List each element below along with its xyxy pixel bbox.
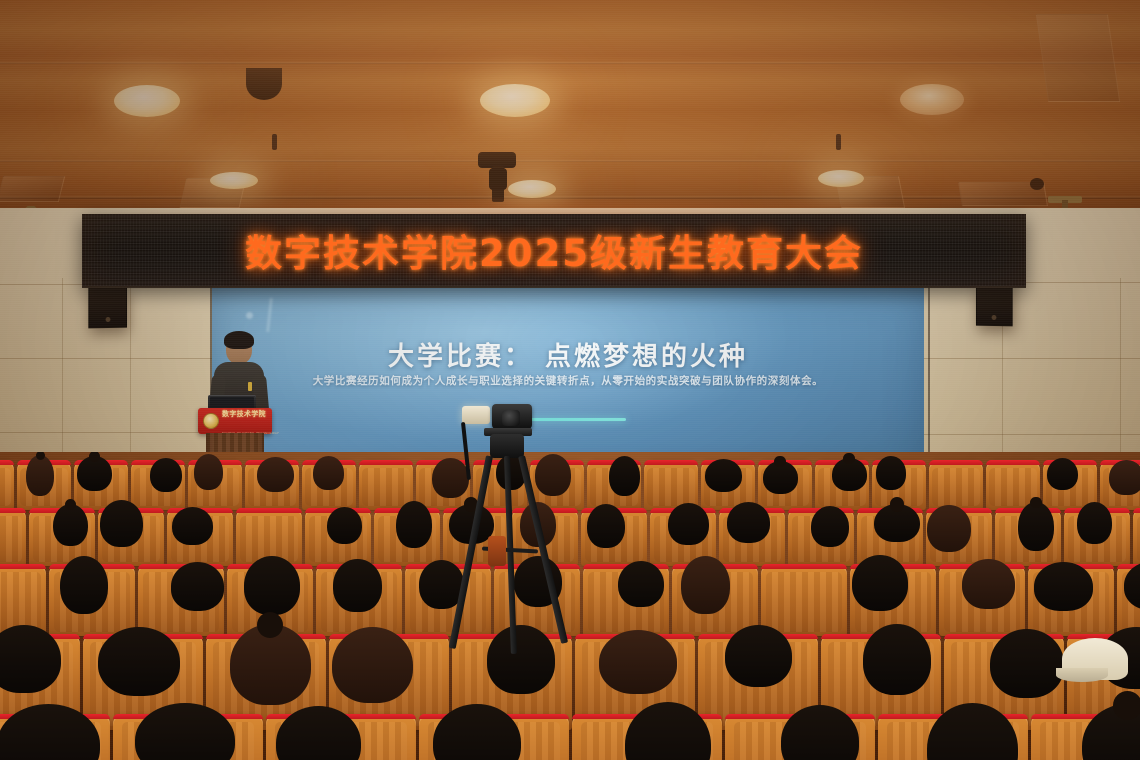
screen-glare — [246, 312, 253, 319]
audience-member — [135, 703, 235, 760]
podium-sign-text: 数字技术学院 — [222, 410, 266, 418]
wall-speaker-right — [976, 284, 1013, 327]
audience-member — [276, 706, 361, 760]
tripod-battery-pack — [488, 536, 506, 566]
university-emblem-icon — [203, 413, 219, 429]
audience-member — [1082, 704, 1140, 760]
podium-sign: 数字技术学院 SCHOOL OF DIGITAL TECHNOLOGY — [198, 408, 272, 434]
screen-glare — [266, 298, 273, 332]
slide-title: 大学比赛： 点燃梦想的火种 — [212, 336, 924, 373]
presenter-badge — [248, 382, 252, 391]
audience-area — [0, 452, 1140, 760]
ceiling-vignette — [0, 0, 1140, 212]
tripod-leg — [449, 455, 493, 649]
audience-heads-foreground — [0, 452, 1140, 760]
camera-tripod — [452, 398, 562, 648]
audience-member — [927, 703, 1018, 760]
camera-light-icon — [462, 406, 490, 424]
camera-lens-icon — [502, 410, 520, 426]
audience-member — [781, 705, 859, 760]
audience-member — [433, 704, 521, 760]
tripod-head — [490, 434, 524, 458]
wall-speaker-left — [88, 286, 127, 329]
hair-bun — [1113, 691, 1140, 720]
led-banner-text: 数字技术学院2025级新生教育大会 — [245, 223, 863, 277]
audience-member — [625, 702, 711, 760]
slide-subtitle: 大学比赛经历如何成为个人成长与职业选择的关键转折点，从零开始的实战突破与团队协作… — [290, 374, 846, 390]
auditorium-photo: 大学比赛： 点燃梦想的火种 大学比赛经历如何成为个人成长与职业选择的关键转折点，… — [0, 0, 1140, 760]
camera-cable — [461, 422, 471, 480]
led-banner: 数字技术学院2025级新生教育大会 — [82, 214, 1026, 288]
audience-member — [0, 704, 100, 760]
ceiling — [0, 0, 1140, 212]
glasses-icon — [228, 346, 250, 352]
